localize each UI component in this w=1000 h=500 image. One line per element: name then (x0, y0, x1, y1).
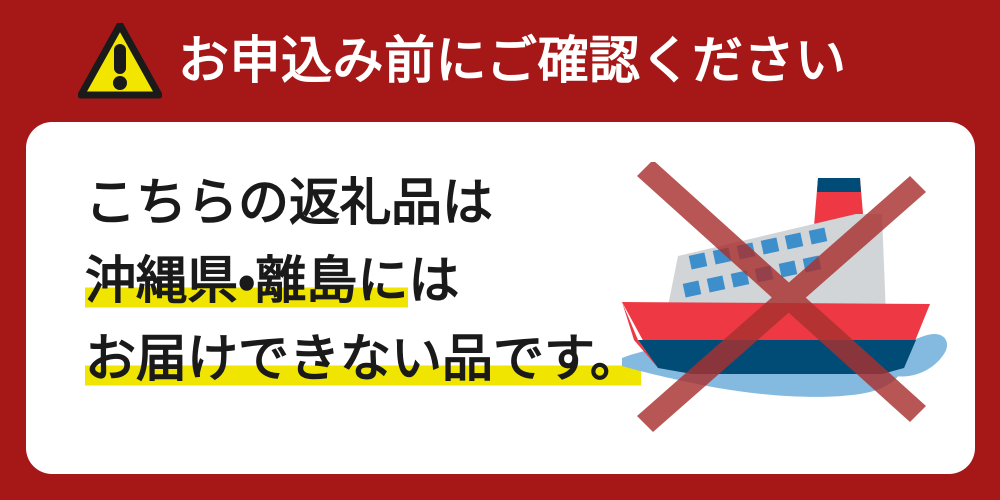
notice-banner: お申込み前にご確認ください こちらの返礼品は 沖縄県・離島には お届けできない品… (0, 0, 1000, 500)
message-segment-highlighted: お届けできない品です。 (85, 330, 641, 387)
message-line-3: お届けできない品です。 (85, 320, 605, 398)
message-segment-highlighted: 沖縄県・離島に (85, 252, 408, 309)
banner-title: お申込み前にご確認ください (178, 35, 846, 86)
notice-message: こちらの返礼品は 沖縄県・離島には お届けできない品です。 (85, 164, 605, 398)
ship-prohibited-illustration (614, 162, 954, 432)
warning-triangle-icon (78, 23, 162, 99)
message-segment: こちらの返礼品は (85, 174, 493, 231)
message-line-1: こちらの返礼品は (85, 164, 605, 242)
message-segment: は (408, 252, 459, 309)
banner-header: お申込み前にご確認ください (0, 0, 1000, 120)
notice-card: こちらの返礼品は 沖縄県・離島には お届けできない品です。 (26, 122, 975, 474)
message-line-2: 沖縄県・離島には (85, 242, 605, 320)
